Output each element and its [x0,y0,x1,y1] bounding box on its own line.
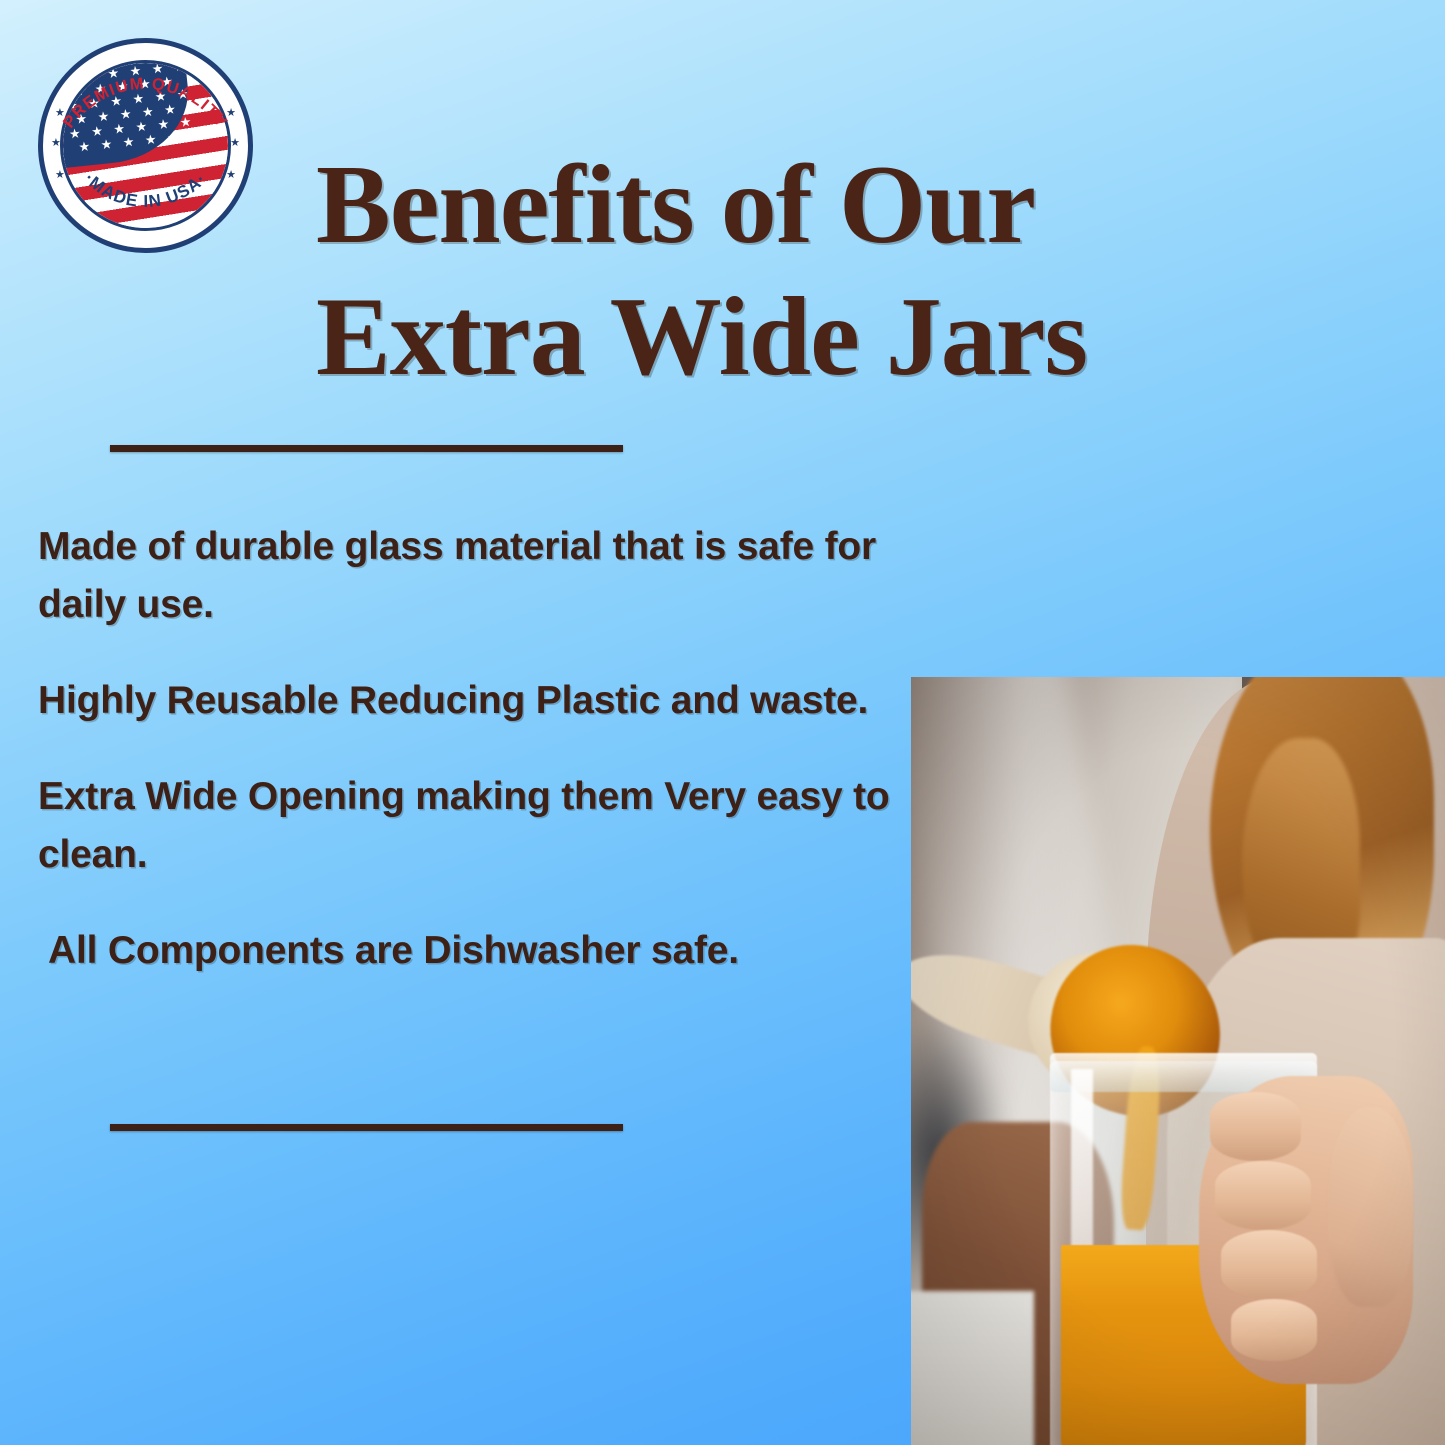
benefit-item: Made of durable glass material that is s… [38,518,900,634]
badge-ring-star-icon: ★ [226,170,236,181]
page-title-line-1: Benefits of Our [316,139,1196,271]
badge-ring-star-icon: ★ [55,170,65,181]
usa-flag-icon: ★ ★ ★ ★ ★ ★ ★ ★ ★ ★ ★ ★ ★ ★ ★ ★ ★ ★ ★ ★ … [63,63,228,228]
badge-ring-star-icon: ★ [55,108,65,119]
benefit-item: All Components are Dishwasher safe. [38,922,900,980]
divider-top [110,445,623,452]
benefit-item: Highly Reusable Reducing Plastic and was… [38,672,900,730]
flag-stars: ★ ★ ★ ★ ★ ★ ★ ★ ★ ★ ★ ★ ★ ★ ★ ★ ★ ★ ★ ★ … [63,63,199,163]
badge-ring-star-icon: ★ [51,138,61,149]
benefit-item: Extra Wide Opening making them Very easy… [38,768,900,884]
page-title: Benefits of Our Extra Wide Jars [316,139,1196,403]
badge-ring-star-icon: ★ [230,138,240,149]
badge-ring-star-icon: ★ [226,108,236,119]
infographic-page: ★ ★ ★ ★ ★ ★ ★ ★ ★ ★ ★ ★ ★ ★ ★ ★ ★ ★ ★ ★ … [0,0,1445,1445]
photo-vignette [911,677,1445,1445]
product-lifestyle-photo [911,677,1445,1445]
benefits-list: Made of durable glass material that is s… [38,518,900,980]
made-in-usa-badge-icon: ★ ★ ★ ★ ★ ★ ★ ★ ★ ★ ★ ★ ★ ★ ★ ★ ★ ★ ★ ★ … [38,38,253,253]
badge-inner-ring: ★ ★ ★ ★ ★ ★ ★ ★ ★ ★ ★ ★ ★ ★ ★ ★ ★ ★ ★ ★ … [60,60,231,231]
photo-scene [911,677,1445,1445]
page-title-line-2: Extra Wide Jars [316,271,1196,403]
divider-bottom [110,1124,623,1131]
